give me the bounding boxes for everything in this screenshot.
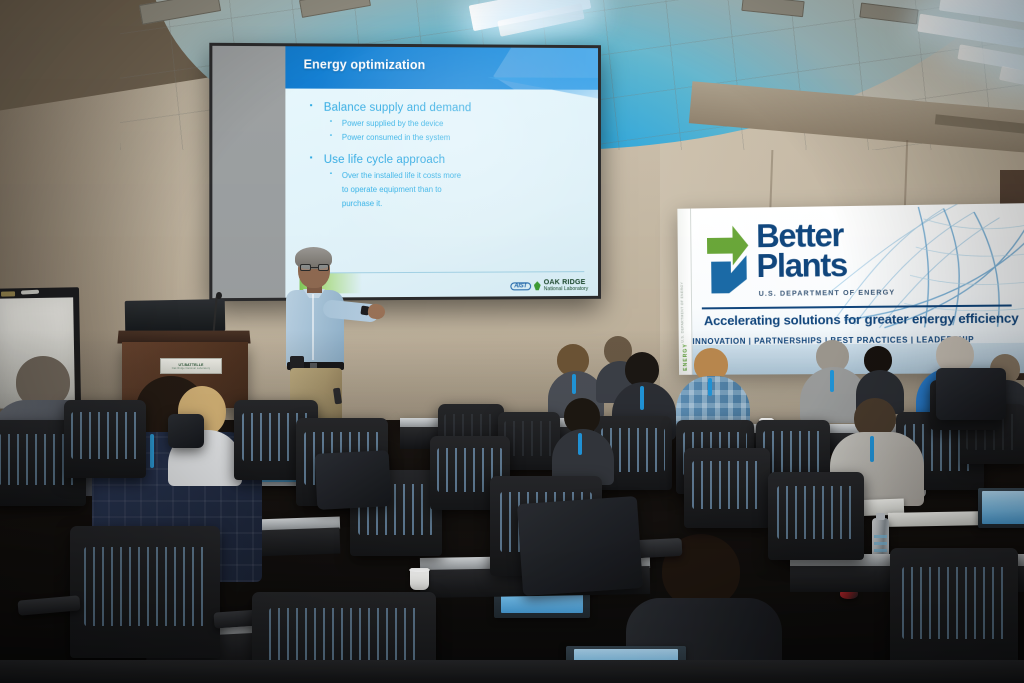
attendee-dark-tshirt xyxy=(552,398,612,474)
slide-bullet-level1: Use life cycle approach xyxy=(310,154,587,166)
attendee-plaid-shirt xyxy=(676,348,748,428)
better-plants-wordmark: Better Plants xyxy=(756,220,847,282)
slide-bullet-level2: Over the installed life it costs more xyxy=(310,170,587,182)
foreground-table-edge xyxy=(0,660,1024,683)
conference-chair[interactable] xyxy=(890,548,1018,668)
conference-chair[interactable] xyxy=(684,448,770,528)
conference-chair[interactable] xyxy=(70,526,220,658)
microphone-icon xyxy=(216,292,222,299)
ornl-logo: OAK RIDGE National Laboratory xyxy=(544,278,589,293)
presenter-hand xyxy=(367,303,386,320)
banner-agency-text: U.S. DEPARTMENT OF ENERGY xyxy=(759,288,896,298)
brand-line-2: Plants xyxy=(756,250,847,281)
better-plants-arrow-logo xyxy=(703,223,751,295)
oak-leaf-icon xyxy=(534,281,541,290)
water-bottle-in-hand xyxy=(168,414,204,448)
conference-room-scene: Energy optimization Balance supply and d… xyxy=(0,0,1024,683)
ornl-logo-sub: National Laboratory xyxy=(544,286,589,292)
slide-bullet-level1: Balance supply and demand xyxy=(310,102,587,115)
slide-bullet-level2-cont: purchase it. xyxy=(310,198,587,210)
equipment-case xyxy=(936,368,1006,420)
marker-pen-icon xyxy=(21,290,39,295)
conference-chair[interactable] xyxy=(64,400,146,478)
lectern-monitor xyxy=(125,299,226,333)
slide-bullet-level2: Power supplied by the device xyxy=(310,118,587,130)
screen-surface: Energy optimization Balance supply and d… xyxy=(212,46,598,298)
aist-logo: AIST xyxy=(510,282,531,290)
slide-bullet-level2: Power consumed in the system xyxy=(310,131,587,143)
drink-cup xyxy=(410,568,429,590)
banner-tagline: Accelerating solutions for greater energ… xyxy=(704,310,1019,328)
laptop[interactable] xyxy=(978,488,1024,528)
laptop-bag xyxy=(517,496,643,596)
flip-chart-clip xyxy=(1,291,15,296)
slide-footer-logos: AIST OAK RIDGE National Laboratory xyxy=(510,278,588,293)
conference-chair[interactable] xyxy=(768,472,864,560)
backpack xyxy=(315,450,392,510)
projection-screen: Energy optimization Balance supply and d… xyxy=(209,43,601,301)
handout-papers xyxy=(888,511,984,527)
slide-bullet-level2-cont: to operate equipment than to xyxy=(310,184,587,196)
slide-body: Balance supply and demand Power supplied… xyxy=(310,102,587,212)
eyeglasses-icon xyxy=(300,264,329,271)
slide-title: Energy optimization xyxy=(304,57,426,72)
ornl-logo-main: OAK RIDGE xyxy=(544,277,586,286)
